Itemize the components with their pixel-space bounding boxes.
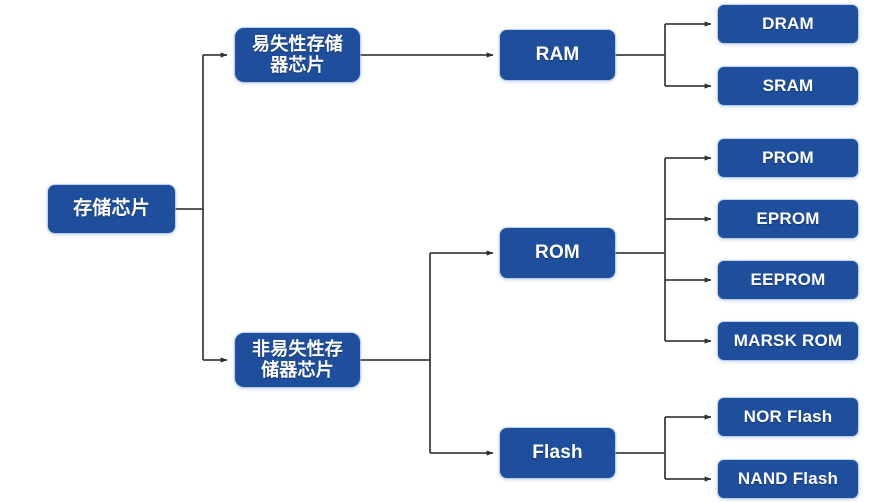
connector-flash-to-children <box>615 417 711 479</box>
node-eeprom[interactable]: EEPROM <box>718 261 858 299</box>
node-nand-flash-label: NAND Flash <box>732 469 844 489</box>
node-marsk-rom-label: MARSK ROM <box>728 331 849 351</box>
node-nonvolatile-memory-chip[interactable]: 非易失性存 储器芯片 <box>235 333 360 387</box>
node-dram-label: DRAM <box>756 14 820 34</box>
node-nor-flash[interactable]: NOR Flash <box>718 398 858 436</box>
node-ram-label: RAM <box>530 44 586 66</box>
node-volatile-label: 易失性存储 器芯片 <box>246 34 349 76</box>
node-prom[interactable]: PROM <box>718 139 858 177</box>
node-root-label: 存储芯片 <box>67 198 156 220</box>
node-root-memory-chip[interactable]: 存储芯片 <box>48 185 175 233</box>
node-rom[interactable]: ROM <box>500 228 615 278</box>
node-flash[interactable]: Flash <box>500 428 615 478</box>
node-nand-flash[interactable]: NAND Flash <box>718 460 858 498</box>
node-flash-label: Flash <box>526 442 589 464</box>
node-dram[interactable]: DRAM <box>718 5 858 43</box>
connector-rom-to-children <box>615 158 711 341</box>
connector-ram-to-children <box>615 24 711 86</box>
node-sram-label: SRAM <box>757 76 820 96</box>
connector-nonvolatile-to-rom-flash <box>360 253 493 453</box>
node-rom-label: ROM <box>529 242 586 264</box>
node-nor-flash-label: NOR Flash <box>738 407 839 427</box>
connector-root-to-level2 <box>175 55 227 360</box>
node-sram[interactable]: SRAM <box>718 67 858 105</box>
node-volatile-memory-chip[interactable]: 易失性存储 器芯片 <box>235 28 360 82</box>
node-nonvolatile-label: 非易失性存 储器芯片 <box>246 339 349 381</box>
node-marsk-rom[interactable]: MARSK ROM <box>718 322 858 360</box>
memory-chip-classification-diagram: 存储芯片 易失性存储 器芯片 非易失性存 储器芯片 RAM ROM Flash … <box>0 0 885 502</box>
node-eprom-label: EPROM <box>750 209 825 229</box>
node-ram[interactable]: RAM <box>500 30 615 80</box>
node-eprom[interactable]: EPROM <box>718 200 858 238</box>
node-eeprom-label: EEPROM <box>745 270 832 290</box>
node-prom-label: PROM <box>756 148 820 168</box>
